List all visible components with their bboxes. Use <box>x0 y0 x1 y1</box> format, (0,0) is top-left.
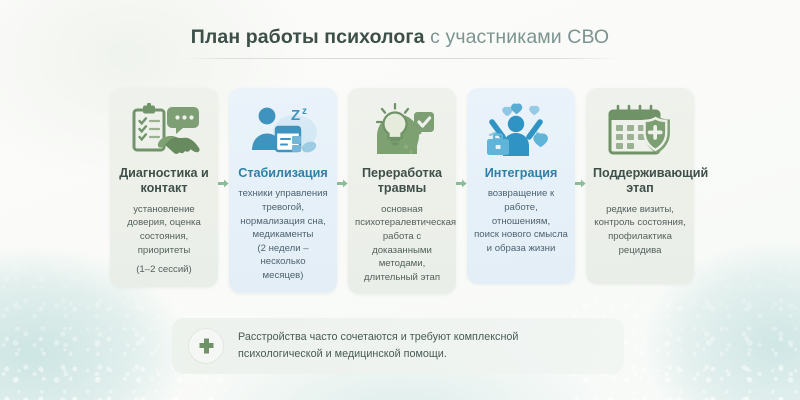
stage-card-title: Переработка травмы <box>352 166 452 197</box>
body-line: техники управления <box>236 187 330 201</box>
body-line: месяцев) <box>236 269 330 283</box>
body-line: состояния, приоритеты <box>117 230 211 257</box>
body-line: редкие визиты, <box>593 203 687 217</box>
stage-arrow-2 <box>337 88 348 189</box>
svg-text:Z: Z <box>291 107 300 124</box>
note-line: Расстройства часто сочетаются и требуют … <box>238 329 518 346</box>
stage-card-body: установление доверия, оценка состояния, … <box>114 203 214 277</box>
stage-card-body: основная психотералевтическая работа с д… <box>352 203 452 285</box>
stage-card-integratsiya[interactable]: Интеграция возвращение к работе, отношен… <box>467 88 575 284</box>
body-line: установление <box>117 203 211 217</box>
body-line: методами, <box>355 257 449 271</box>
arrow-right-icon <box>337 178 348 189</box>
title-divider <box>180 58 620 59</box>
arrow-right-icon <box>218 178 229 189</box>
body-line: и образа жизни <box>474 242 568 256</box>
stage-card-title: Поддерживающий этап <box>590 166 690 197</box>
infographic-poster: План работы психолога с участниками СВО <box>0 0 800 400</box>
stage-card-pererabotka-travmy[interactable]: Переработка травмы основная психотералев… <box>348 88 456 294</box>
svg-text:z: z <box>302 106 307 117</box>
stage-card-stabilizatsiya[interactable]: Z z Стабилизация техник <box>229 88 337 293</box>
page-title-light: с участниками СВО <box>430 26 609 48</box>
body-line: (2 недели – несколько <box>236 242 330 269</box>
stage-card-body: техники управления тревогой, нормализаци… <box>233 187 333 282</box>
title-line: травмы <box>378 181 427 195</box>
body-line: медикаменты <box>236 228 330 242</box>
body-line: работа с доказанными <box>355 230 449 257</box>
footer-note-text: Расстройства часто сочетаются и требуют … <box>238 329 518 364</box>
body-line: длительный этап <box>355 271 449 285</box>
note-line: психологической и медицинской помощи. <box>238 346 518 363</box>
person-sleep-medication-icon: Z z <box>233 100 333 162</box>
stage-row: Диагностика и контакт установление довер… <box>110 88 695 296</box>
title-line: Поддерживающий <box>593 166 708 180</box>
page-title: План работы психолога с участниками СВО <box>0 26 800 49</box>
title-line: Стабилизация <box>238 166 327 180</box>
title-line: этап <box>626 181 654 195</box>
body-line: поиск нового смысла <box>474 228 568 242</box>
body-line: контроль состояния, <box>593 216 687 230</box>
stage-arrow-4 <box>575 88 586 189</box>
arrow-right-icon <box>456 178 467 189</box>
stage-card-diagnostika[interactable]: Диагностика и контакт установление довер… <box>110 88 218 287</box>
stage-card-title: Стабилизация <box>233 166 333 181</box>
stage-card-title: Диагностика и контакт <box>114 166 214 197</box>
body-line: отношениям, <box>474 215 568 229</box>
stage-card-body: редкие визиты, контроль состояния, профи… <box>590 203 690 257</box>
stage-card-podderzhivayushchiy-etap[interactable]: Поддерживающий этап редкие визиты, контр… <box>586 88 694 284</box>
body-line: нормализация сна, <box>236 215 330 229</box>
title-line: Переработка <box>362 166 442 180</box>
stage-arrow-1 <box>218 88 229 189</box>
head-lightbulb-check-icon <box>352 100 452 162</box>
stage-arrow-3 <box>456 88 467 189</box>
body-line: тревогой, <box>236 201 330 215</box>
stage-card-body: возвращение к работе, отношениям, поиск … <box>471 187 571 255</box>
page-title-strong: План работы психолога <box>191 26 425 48</box>
body-line: рецидива <box>593 244 687 258</box>
body-line: возвращение к работе, <box>474 187 568 214</box>
arrow-right-icon <box>575 178 586 189</box>
poster-header: План работы психолога с участниками СВО <box>0 26 800 59</box>
stage-card-title: Интеграция <box>471 166 571 181</box>
clipboard-handshake-icon <box>114 100 214 162</box>
person-hearts-briefcase-icon <box>471 100 571 162</box>
body-line: основная <box>355 203 449 217</box>
calendar-shield-plus-icon <box>590 100 690 162</box>
footer-note: Расстройства часто сочетаются и требуют … <box>172 318 624 374</box>
body-line: доверия, оценка <box>117 216 211 230</box>
body-line: психотералевтическая <box>355 216 449 230</box>
title-line: Диагностика <box>119 166 197 180</box>
medical-cross-icon <box>188 328 224 364</box>
title-line: Интеграция <box>485 166 558 180</box>
body-line: (1–2 сессий) <box>117 257 211 277</box>
body-line: профилактика <box>593 230 687 244</box>
